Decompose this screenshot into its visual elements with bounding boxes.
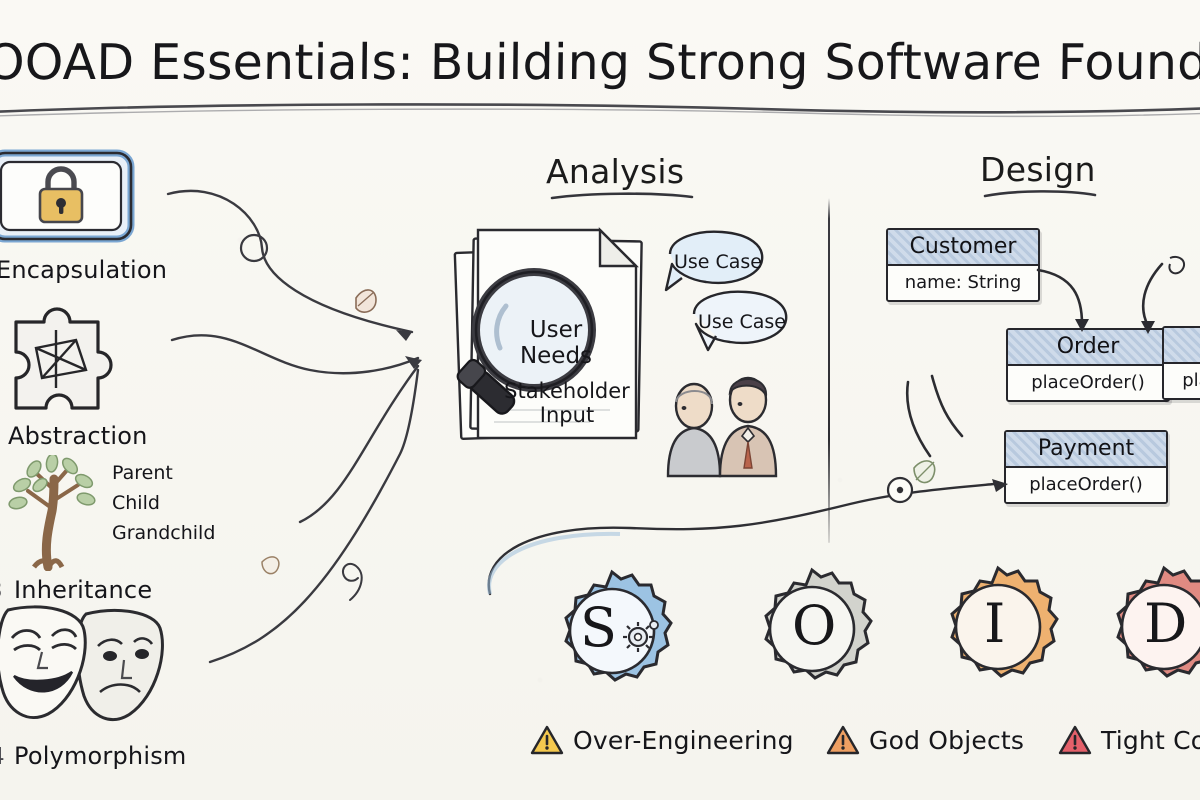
pitfall-label: Tight Coupling xyxy=(1101,726,1200,755)
scalloped-badge-shape xyxy=(748,565,876,693)
design-heading: Design xyxy=(980,150,1096,189)
use-case-bubble-1: Use Case xyxy=(668,238,768,286)
pitfall-tight-coupling[interactable]: Tight Coupling xyxy=(1058,725,1200,755)
analysis-heading-underline xyxy=(548,190,696,204)
scalloped-badge-shape xyxy=(1100,563,1200,691)
use-case-bubble-2: Use Case xyxy=(688,298,796,346)
solid-badge-s[interactable]: S xyxy=(548,567,676,695)
stakeholders-icon xyxy=(662,358,782,478)
user-needs-label: User Needs xyxy=(496,318,616,370)
page-title: OOAD Essentials: Building Strong Softwar… xyxy=(0,34,1200,91)
warning-triangle-icon xyxy=(530,725,564,755)
solid-badge-o[interactable]: O xyxy=(748,565,876,693)
pillar-label-abstraction: Abstraction xyxy=(8,422,148,450)
solid-badge-i[interactable]: I xyxy=(934,563,1062,691)
analysis-heading: Analysis xyxy=(546,152,684,191)
pillar-number-2: 2 xyxy=(0,424,1,450)
pitfall-over-engineering[interactable]: Over-Engineering xyxy=(530,725,794,755)
scalloped-badge-shape xyxy=(548,567,676,695)
pillar-connector-arrows xyxy=(150,170,470,710)
stakeholder-input-label: Stakeholder Input xyxy=(492,380,642,427)
pitfall-label: God Objects xyxy=(869,726,1024,755)
pillar-label-encapsulation: Encapsulation xyxy=(0,256,167,284)
whiteboard-canvas: OOAD Essentials: Building Strong Softwar… xyxy=(0,0,1200,800)
solid-badge-d[interactable]: D xyxy=(1100,563,1200,691)
tree-icon xyxy=(4,455,108,571)
warning-triangle-icon xyxy=(1058,725,1092,755)
scalloped-badge-shape xyxy=(934,563,1062,691)
pillar-label-polymorphism: Polymorphism xyxy=(14,742,187,770)
warning-triangle-icon xyxy=(826,725,860,755)
pitfall-god-objects[interactable]: God Objects xyxy=(826,725,1024,755)
pitfall-label: Over-Engineering xyxy=(573,726,794,755)
puzzle-piece-icon xyxy=(0,288,142,420)
title-underline xyxy=(0,96,1200,120)
pillar-number-4: 4 xyxy=(0,744,5,770)
padlock-icon xyxy=(0,148,136,246)
design-heading-underline xyxy=(982,188,1098,202)
